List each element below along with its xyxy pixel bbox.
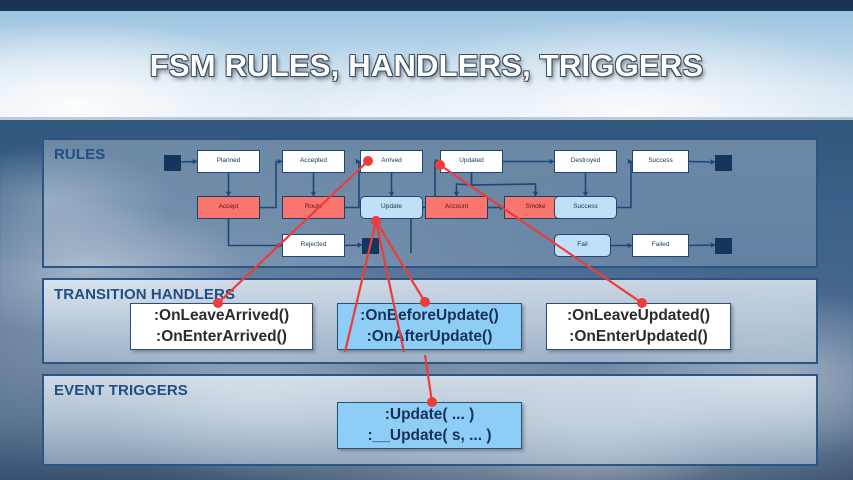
handler-box-line: :OnLeaveUpdated(): [567, 306, 710, 326]
fsm-node-success1: Success: [632, 150, 689, 173]
handler-box-updated-handlers: :OnLeaveUpdated():OnEnterUpdated(): [546, 303, 731, 350]
transition-handlers-panel-title: TRANSITION HANDLERS: [54, 286, 235, 303]
handler-box-line: :OnEnterArrived(): [156, 327, 287, 347]
fsm-node-update: Update: [360, 196, 423, 219]
fsm-terminal-marker: [164, 155, 181, 171]
slide-canvas: FSM RULES, HANDLERS, TRIGGERS RULES TRAN…: [0, 0, 853, 480]
fsm-terminal-marker: [715, 238, 732, 254]
handler-box-line: :OnBeforeUpdate(): [360, 306, 499, 326]
fsm-node-account: Account: [425, 196, 488, 219]
fsm-state-diagram: PlannedAcceptAcceptedRouteRejectedArrive…: [42, 138, 818, 268]
handler-box-update-handlers: :OnBeforeUpdate():OnAfterUpdate(): [337, 303, 522, 350]
trigger-box-line: :Update( ... ): [385, 405, 475, 425]
fsm-node-fail: Fail: [554, 234, 611, 257]
handler-box-line: :OnAfterUpdate(): [367, 327, 493, 347]
fsm-node-arrived: Arrived: [360, 150, 423, 173]
fsm-node-success2: Success: [554, 196, 617, 219]
fsm-node-updated: Updated: [440, 150, 503, 173]
trigger-box-line: :__Update( s, ... ): [367, 426, 491, 446]
fsm-terminal-marker: [362, 238, 379, 254]
top-accent-bar: [0, 0, 853, 11]
handler-box-line: :OnEnterUpdated(): [569, 327, 708, 347]
fsm-node-route: Route: [282, 196, 345, 219]
fsm-node-rejected: Rejected: [282, 234, 345, 257]
fsm-node-planned: Planned: [197, 150, 260, 173]
fsm-node-accepted: Accepted: [282, 150, 345, 173]
trigger-box-update-triggers: :Update( ... ):__Update( s, ... ): [337, 402, 522, 449]
fsm-node-accept: Accept: [197, 196, 260, 219]
event-triggers-panel-title: EVENT TRIGGERS: [54, 382, 188, 399]
fsm-node-failed: Failed: [632, 234, 689, 257]
fsm-terminal-marker: [715, 155, 732, 171]
fsm-node-destroyed: Destroyed: [554, 150, 617, 173]
handler-box-line: :OnLeaveArrived(): [154, 306, 289, 326]
handler-box-arrived-handlers: :OnLeaveArrived():OnEnterArrived(): [130, 303, 313, 350]
page-title: FSM RULES, HANDLERS, TRIGGERS: [0, 11, 853, 120]
